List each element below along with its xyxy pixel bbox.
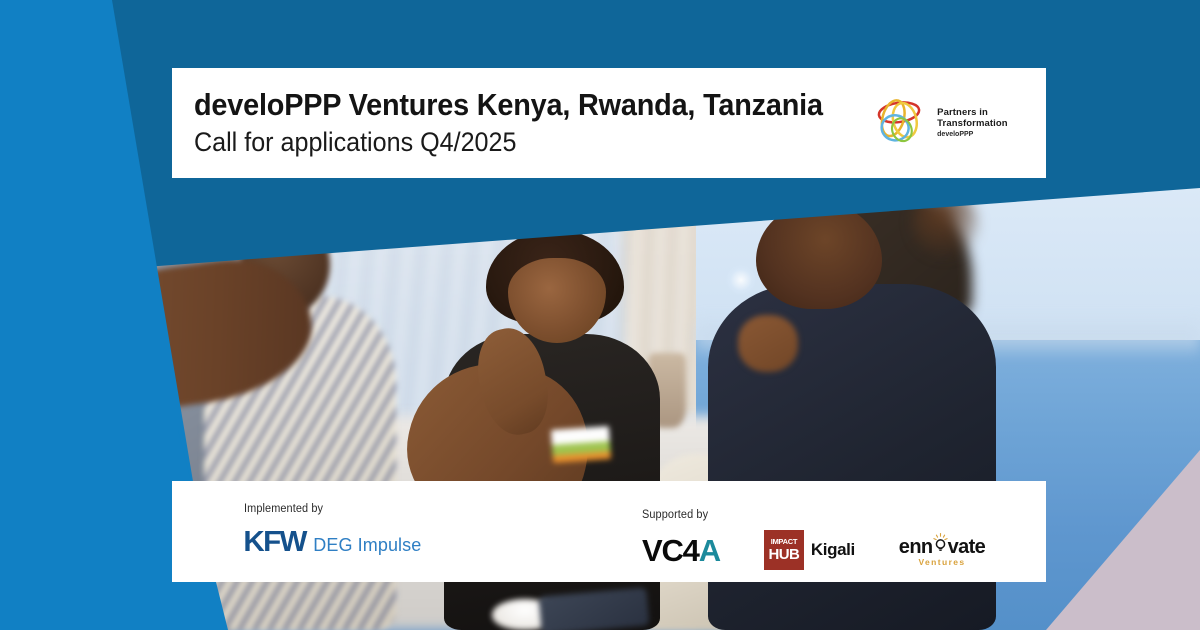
impact-hub-main: HUB bbox=[769, 547, 800, 562]
logo-line-3: develoPPP bbox=[937, 131, 1008, 139]
interlocking-loops-icon bbox=[870, 97, 928, 149]
kfw-logo: KFW DEG Impulse bbox=[244, 526, 421, 559]
impact-hub-mark: IMPACT HUB bbox=[764, 530, 804, 570]
person-right-hand bbox=[738, 315, 798, 372]
banner-root: develoPPP Ventures Kenya, Rwanda, Tanzan… bbox=[0, 0, 1200, 630]
logo-line-1: Partners in bbox=[937, 107, 1008, 118]
kfw-wordmark: KFW bbox=[243, 526, 305, 559]
supported-logo-row: VC4A IMPACT HUB Kigali enn bbox=[642, 530, 985, 570]
ennovate-subtitle: Ventures bbox=[918, 557, 965, 567]
ennovate-post: vate bbox=[948, 536, 986, 559]
impact-hub-city: Kigali bbox=[811, 540, 855, 560]
vc4a-part2: A bbox=[699, 533, 720, 568]
supported-by-block: Supported by VC4A IMPACT HUB Kigali enn bbox=[642, 509, 985, 570]
partners-in-transformation-logo: Partners in Transformation develoPPP bbox=[870, 97, 1008, 149]
lightbulb-icon bbox=[933, 533, 948, 553]
implemented-by-label: Implemented by bbox=[244, 503, 413, 515]
header-text-block: develoPPP Ventures Kenya, Rwanda, Tanzan… bbox=[194, 87, 870, 160]
impact-hub-tag: IMPACT bbox=[771, 538, 797, 546]
logo-line-2: Transformation bbox=[937, 118, 1008, 129]
page-subtitle: Call for applications Q4/2025 bbox=[194, 126, 823, 159]
page-title: develoPPP Ventures Kenya, Rwanda, Tanzan… bbox=[194, 87, 823, 124]
implemented-by-block: Implemented by KFW DEG Impulse bbox=[244, 503, 421, 559]
vc4a-part1: VC4 bbox=[642, 533, 699, 568]
supported-by-label: Supported by bbox=[642, 509, 968, 521]
deg-impulse-wordmark: DEG Impulse bbox=[313, 535, 421, 556]
header-card: develoPPP Ventures Kenya, Rwanda, Tanzan… bbox=[172, 68, 1046, 178]
name-badge bbox=[551, 426, 611, 463]
lamp-glow bbox=[726, 265, 756, 295]
ennovate-pre: enn bbox=[899, 536, 933, 559]
logo-wordmark: Partners in Transformation develoPPP bbox=[937, 107, 1008, 140]
ennovate-ventures-logo: enn bbox=[899, 533, 985, 567]
impact-hub-kigali-logo: IMPACT HUB Kigali bbox=[764, 530, 855, 570]
vc4a-logo: VC4A bbox=[642, 535, 720, 566]
partner-logos-card: Implemented by KFW DEG Impulse Supported… bbox=[172, 481, 1046, 582]
ennovate-wordmark: enn bbox=[899, 533, 985, 559]
